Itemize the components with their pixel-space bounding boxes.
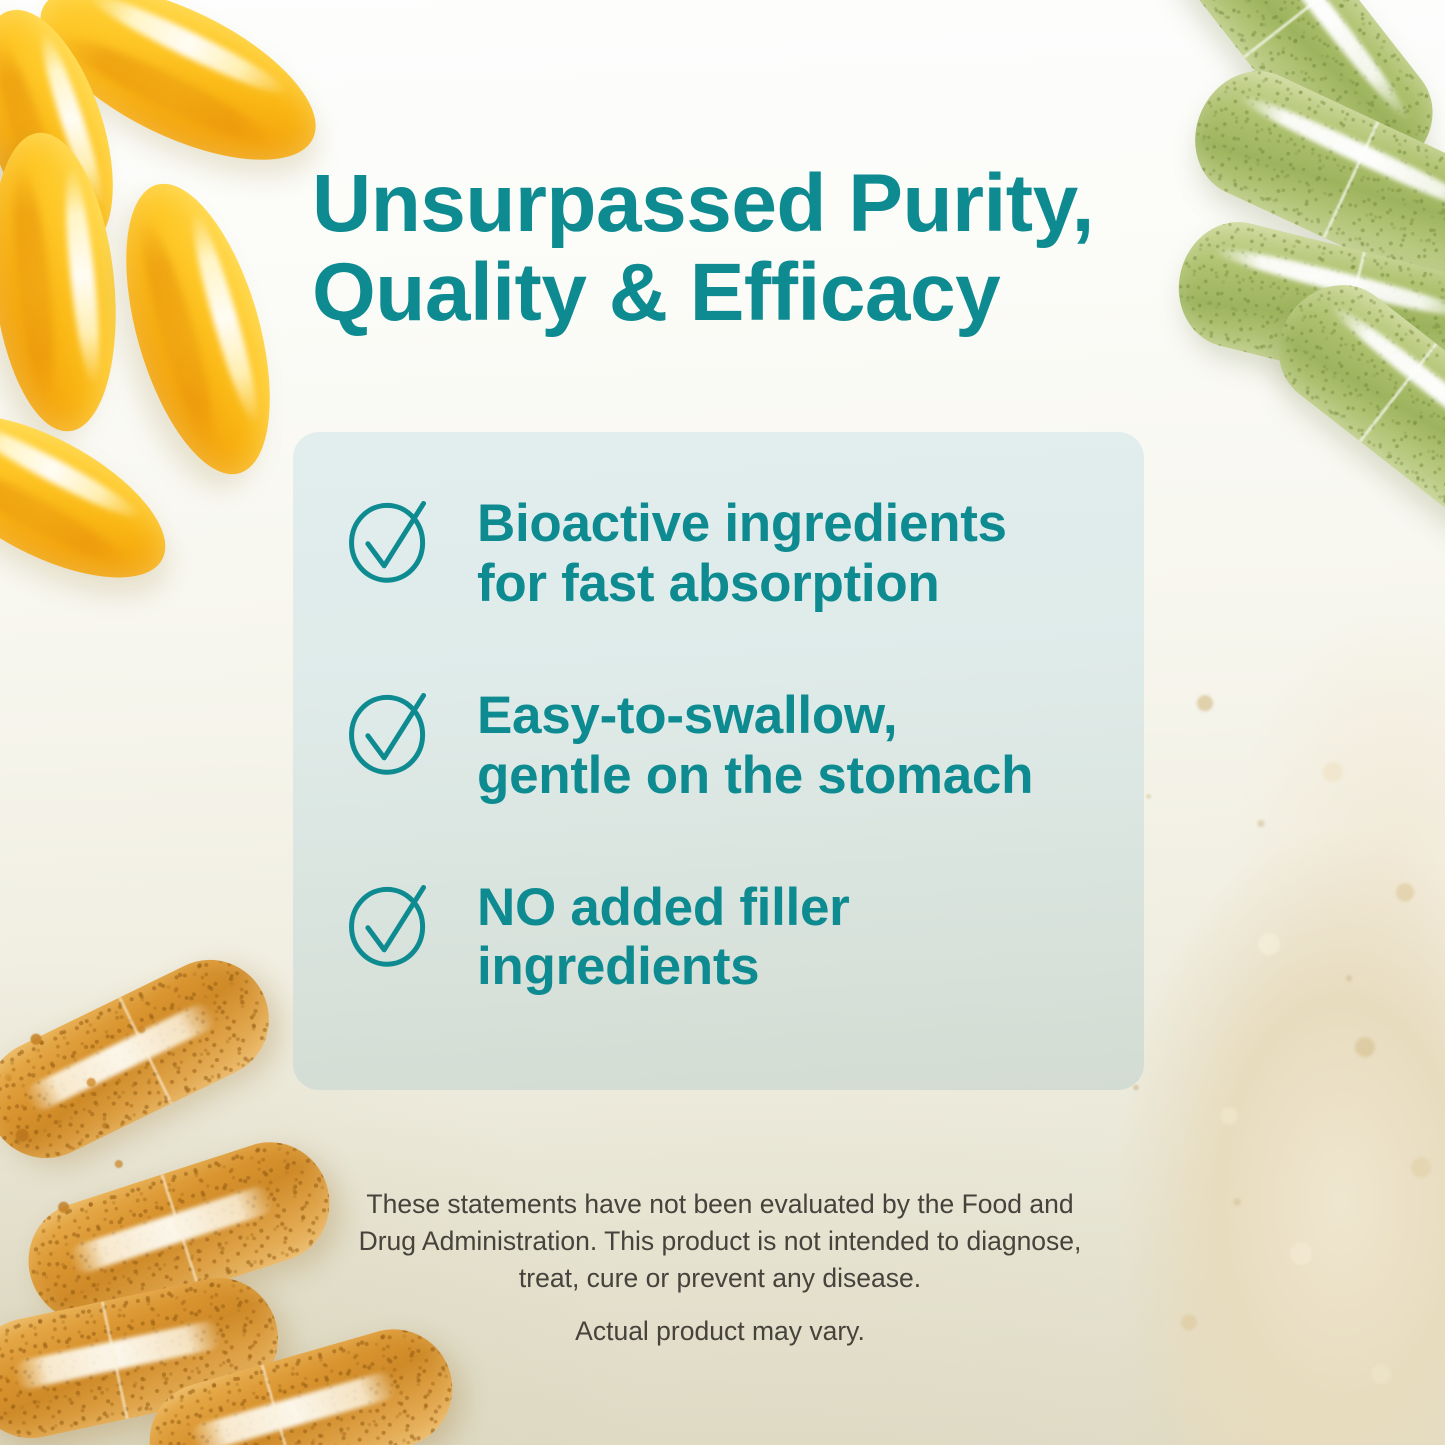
spilled-turmeric-powder (0, 996, 220, 1236)
list-item: NO added filler ingredients (341, 872, 1104, 998)
softgel-capsule (98, 168, 298, 490)
fda-disclaimer: These statements have not been evaluated… (300, 1186, 1140, 1297)
benefit-label: NO added filler ingredients (477, 872, 849, 998)
actual-product-disclaimer: Actual product may vary. (300, 1316, 1140, 1347)
check-circle-icon (341, 874, 437, 970)
product-feature-image: Unsurpassed Purity, Quality & Efficacy B… (0, 0, 1445, 1445)
softgel-capsule (0, 381, 189, 610)
page-title: Unsurpassed Purity, Quality & Efficacy (312, 160, 1192, 337)
check-circle-icon (341, 682, 437, 778)
check-circle-icon (341, 490, 437, 586)
benefits-card: Bioactive ingredients for fast absorptio… (293, 432, 1144, 1090)
benefits-list: Bioactive ingredients for fast absorptio… (341, 488, 1104, 997)
list-item: Easy-to-swallow, gentle on the stomach (341, 680, 1104, 806)
benefit-label: Bioactive ingredients for fast absorptio… (477, 488, 1007, 614)
list-item: Bioactive ingredients for fast absorptio… (341, 488, 1104, 614)
benefit-label: Easy-to-swallow, gentle on the stomach (477, 680, 1033, 806)
